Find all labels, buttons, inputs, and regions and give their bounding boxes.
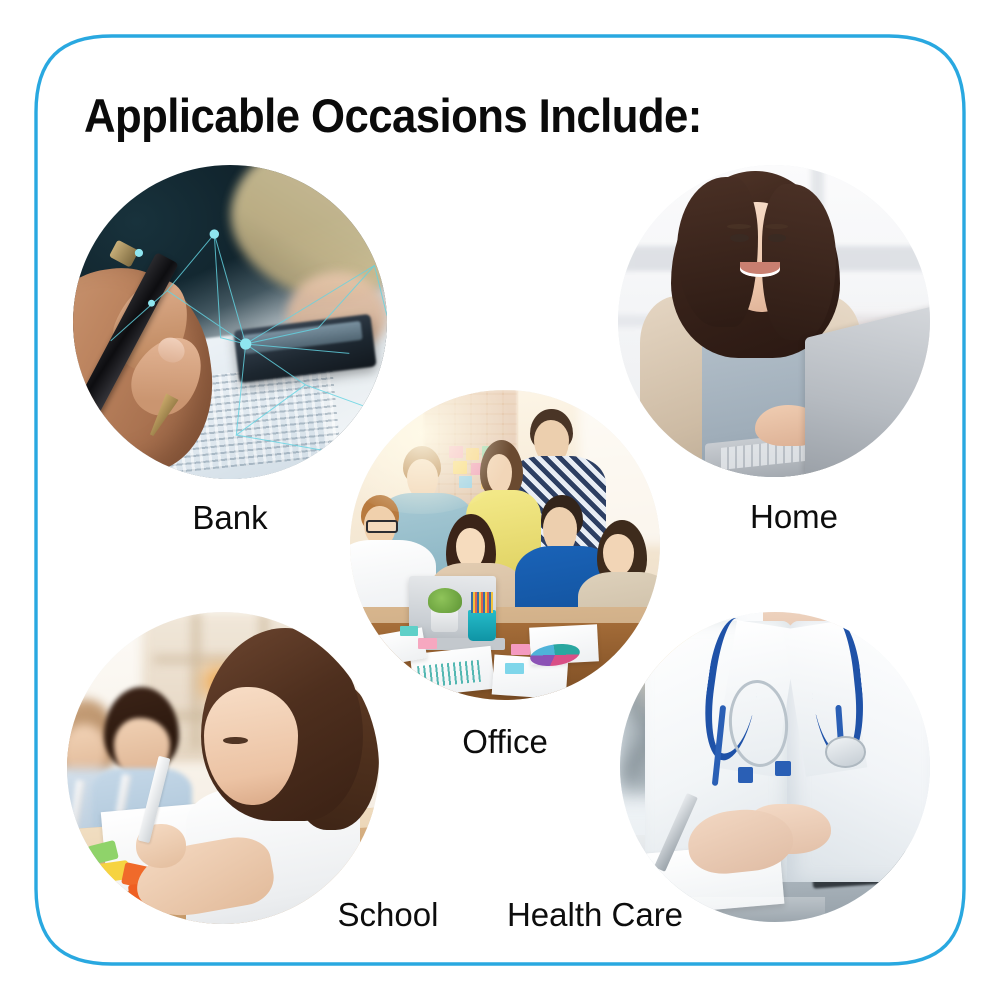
promo-banner: Applicable Occasions Include: [0,0,1000,1000]
occasion-label-bank: Bank [130,501,330,534]
occasion-label-health-care: Health Care [495,898,695,931]
office-photo [350,390,660,700]
occasion-label-office: Office [405,725,605,758]
data-network-overlay [73,165,387,479]
bank-photo [73,165,387,479]
page-title: Applicable Occasions Include: [84,92,828,139]
occasion-label-home: Home [694,500,894,533]
health-care-photo [620,612,930,922]
occasion-label-school: School [288,898,488,931]
school-photo [67,612,379,924]
home-photo [618,165,930,477]
